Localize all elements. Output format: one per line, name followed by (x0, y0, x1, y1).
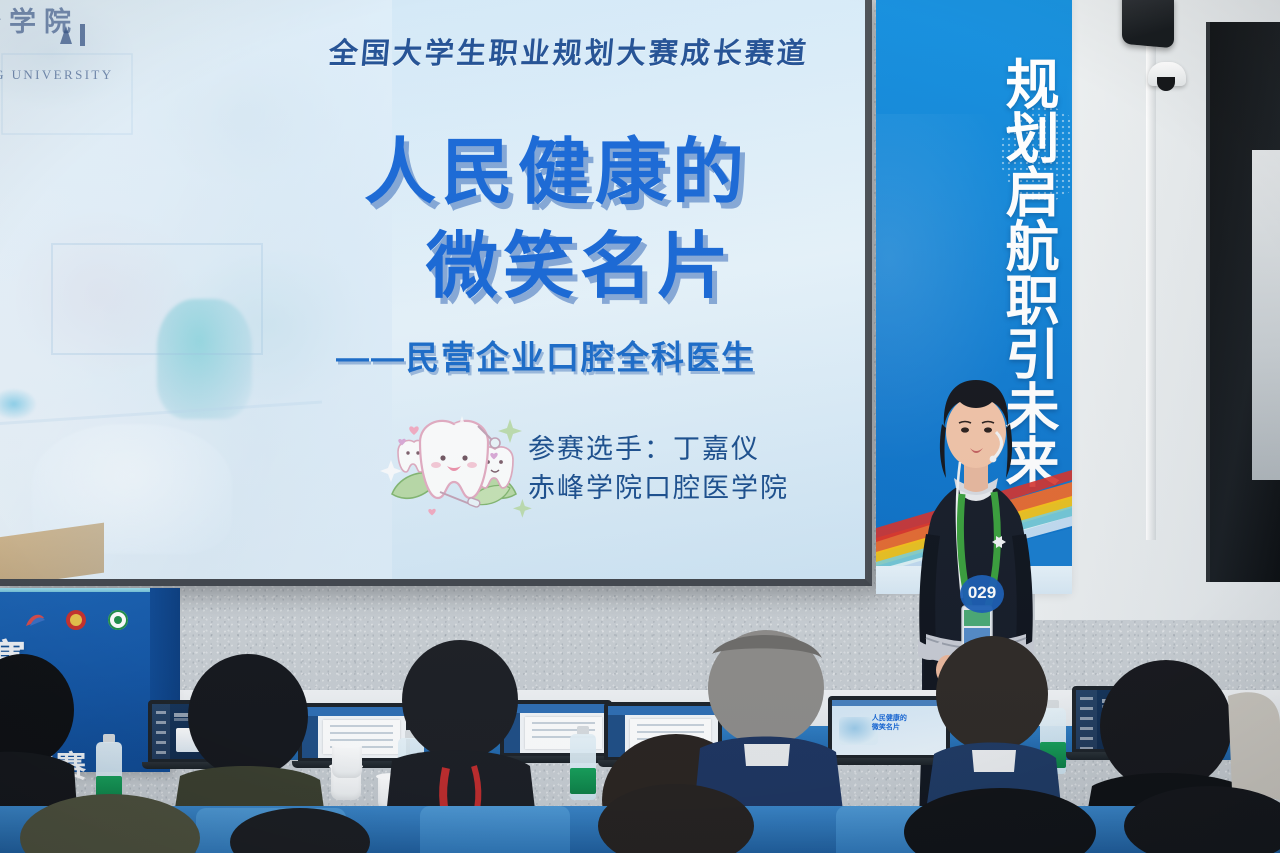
slide-university-logo-en: ENG UNIVERSITY (0, 67, 180, 83)
slide-title: 人民健康的 微笑名片 (364, 126, 834, 314)
slide-presenter-block: 参赛选手：丁嘉仪 赤峰学院口腔医学院 (528, 430, 789, 508)
slide-title-line1: 人民健康的 (364, 133, 749, 213)
slide-title-line2: 微笑名片 (364, 220, 834, 314)
slide-header-text: 全国大学生职业规划大赛成长赛道 (327, 30, 851, 72)
slide-subtitle: ——民营企业口腔全科医生 (336, 331, 806, 379)
slide-presenter-school: 赤峰学院口腔医学院 (528, 469, 789, 508)
door-glass-panel (1252, 150, 1280, 480)
dome-security-camera-icon (1148, 62, 1186, 86)
ceiling-speaker (1122, 0, 1174, 48)
presentation-slide: 峰学院 ENG UNIVERSITY 全国大学生职业规划大赛成长赛道 人民健康的… (0, 0, 865, 579)
photo-scene: 峰学院 ENG UNIVERSITY 全国大学生职业规划大赛成长赛道 人民健康的… (0, 0, 1280, 853)
front-row-audience (0, 780, 1280, 853)
slide-logo-seal-icon (52, 20, 98, 50)
tooth-mascot-icon (374, 406, 534, 526)
led-screen: 峰学院 ENG UNIVERSITY 全国大学生职业规划大赛成长赛道 人民健康的… (0, 0, 872, 586)
slide-presenter-name: 参赛选手：丁嘉仪 (528, 430, 789, 469)
